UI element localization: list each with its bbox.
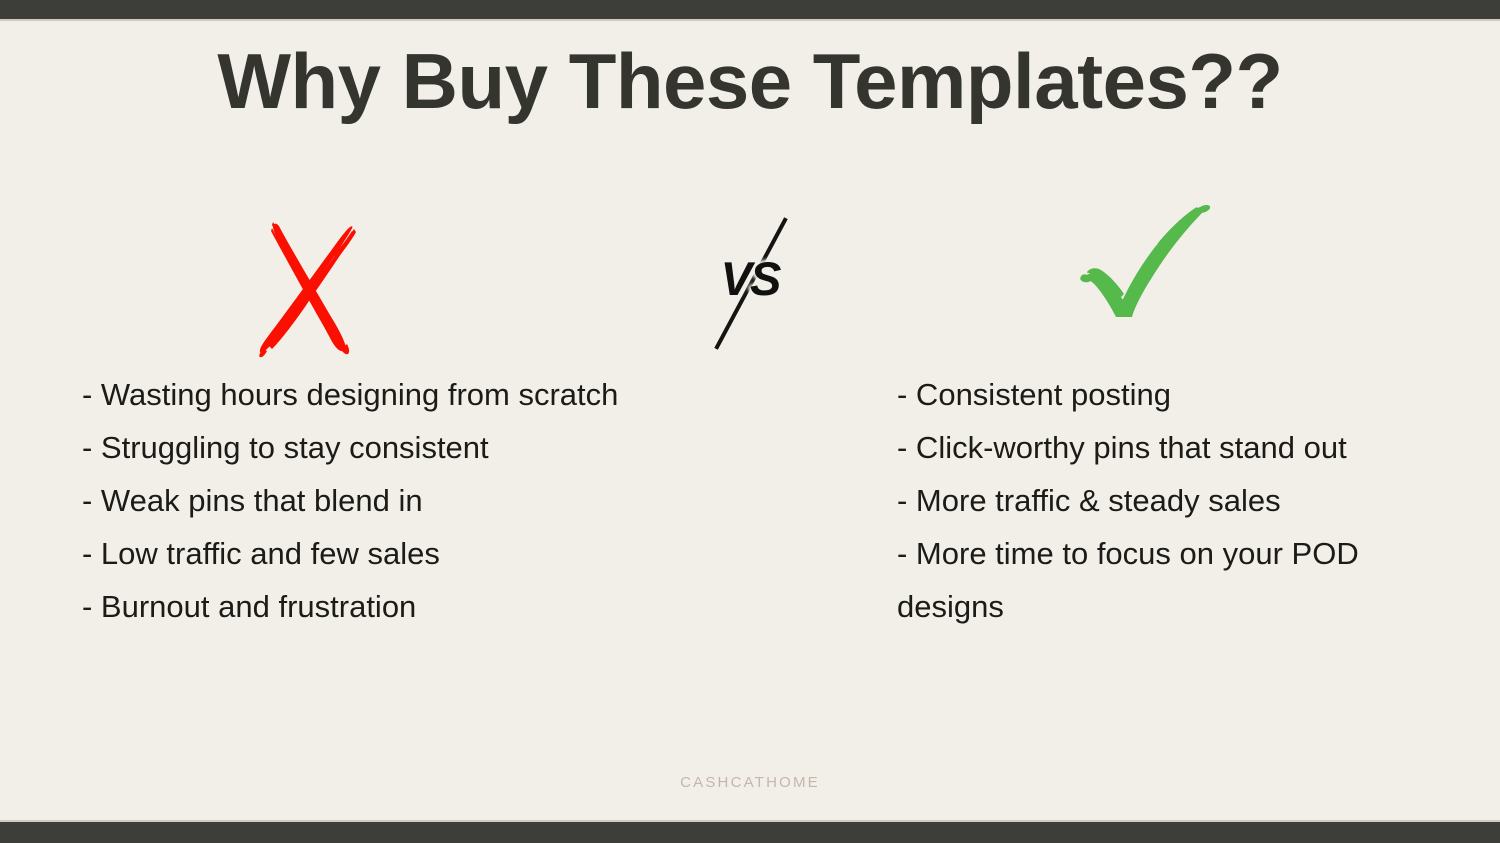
positive-list: - Consistent posting - Click-worthy pins… <box>897 368 1417 633</box>
bottom-bar <box>0 822 1500 843</box>
list-item: - Burnout and frustration <box>82 580 642 633</box>
top-bar <box>0 0 1500 19</box>
slide-canvas: Why Buy These Templates?? VS <box>0 0 1500 843</box>
list-item: - More traffic & steady sales <box>897 474 1417 527</box>
versus-divider: VS <box>690 205 810 365</box>
versus-label: VS <box>690 255 810 302</box>
list-item: - Weak pins that blend in <box>82 474 642 527</box>
footer-watermark: CASHCATHOME <box>0 774 1500 791</box>
list-item: - Struggling to stay consistent <box>82 421 642 474</box>
red-x-mark-icon <box>255 208 371 358</box>
list-item: - Low traffic and few sales <box>82 527 642 580</box>
green-check-mark-icon <box>1078 205 1214 323</box>
list-item: - More time to focus on your POD designs <box>897 527 1417 633</box>
list-item: - Click-worthy pins that stand out <box>897 421 1417 474</box>
page-title: Why Buy These Templates?? <box>0 39 1500 125</box>
negative-list: - Wasting hours designing from scratch -… <box>82 368 642 633</box>
list-item: - Consistent posting <box>897 368 1417 421</box>
list-item: - Wasting hours designing from scratch <box>82 368 642 421</box>
